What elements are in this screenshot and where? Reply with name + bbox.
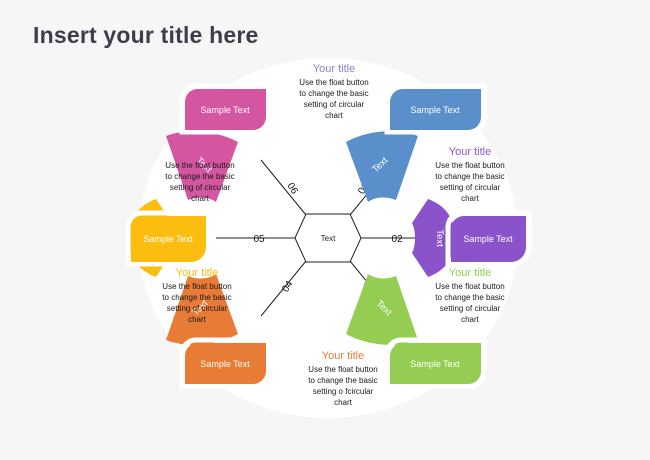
callout-box-05[interactable]: Sample Text [128,213,209,264]
text-block-bottom-center-line-2: to change the basic [308,376,377,385]
text-block-right-lower-line-3: setting of circular [440,304,501,313]
text-block-left-lower-line-1: Use the float button [162,282,231,291]
callout-box-04-label: Sample Text [200,359,250,369]
text-block-bottom-center-heading: Your title [322,350,364,362]
callout-box-03[interactable]: Sample Text [387,340,484,386]
text-block-bottom-center-line-3: setting o fcircular [313,387,374,396]
text-block-left-lower-line-2: to change the basic [162,293,231,302]
callout-box-04[interactable]: Sample Text [182,340,269,386]
text-block-right-lower-heading: Your title [449,267,491,279]
text-block-left-upper-line-3: setting of circular [170,183,231,192]
callout-box-06-label: Sample Text [200,105,250,115]
callout-box-03-label: Sample Text [410,359,460,369]
text-block-right-upper-line-3: setting of circular [440,183,501,192]
spoke-number-05: 05 [253,234,265,245]
text-block-left-lower-heading: Your title [176,267,218,279]
text-block-left-upper-heading: Your title [179,146,221,158]
text-block-right-upper-line-1: Use the float button [435,161,504,170]
text-block-left-lower-line-4: chart [188,315,207,324]
text-block-left-upper-line-4: chart [191,194,210,203]
text-block-right-upper-line-2: to change the basic [435,172,504,181]
text-block-right-upper-line-4: chart [461,194,480,203]
text-block-bottom-center-line-4: chart [334,398,353,407]
text-block-top-center-line-4: chart [325,111,344,120]
callout-box-02[interactable]: Sample Text [448,213,529,264]
text-block-right-lower-line-2: to change the basic [435,293,504,302]
text-block-left-upper-line-1: Use the float button [165,161,234,170]
spoke-number-02: 02 [391,234,403,245]
text-block-top-center-line-2: to change the basic [299,89,368,98]
text-block-top-center-line-1: Use the float button [299,78,368,87]
text-block-bottom-center-line-1: Use the float button [308,365,377,374]
arc-label-02: Text [434,229,445,247]
text-block-right-lower-line-4: chart [461,315,480,324]
text-block-left-upper-line-2: to change the basic [165,172,234,181]
callout-box-05-label: Sample Text [143,234,193,244]
text-block-right-upper-heading: Your title [449,146,491,158]
center-hexagon-label: Text [321,234,336,243]
text-block-right-lower-line-1: Use the float button [435,282,504,291]
callout-box-01-label: Sample Text [410,105,460,115]
callout-box-06[interactable]: Sample Text [182,86,269,132]
slide-canvas: Insert your title here Text 01 02 03 04 … [0,0,650,460]
callout-box-02-label: Sample Text [463,234,513,244]
callout-box-01[interactable]: Sample Text [387,86,484,132]
circular-diagram: Text 01 02 03 04 05 06 Text Text Text Te… [0,0,650,460]
text-block-left-lower-line-3: setting of circular [167,304,228,313]
text-block-top-center-heading: Your title [313,63,355,75]
text-block-top-center-line-3: setting of circular [304,100,365,109]
